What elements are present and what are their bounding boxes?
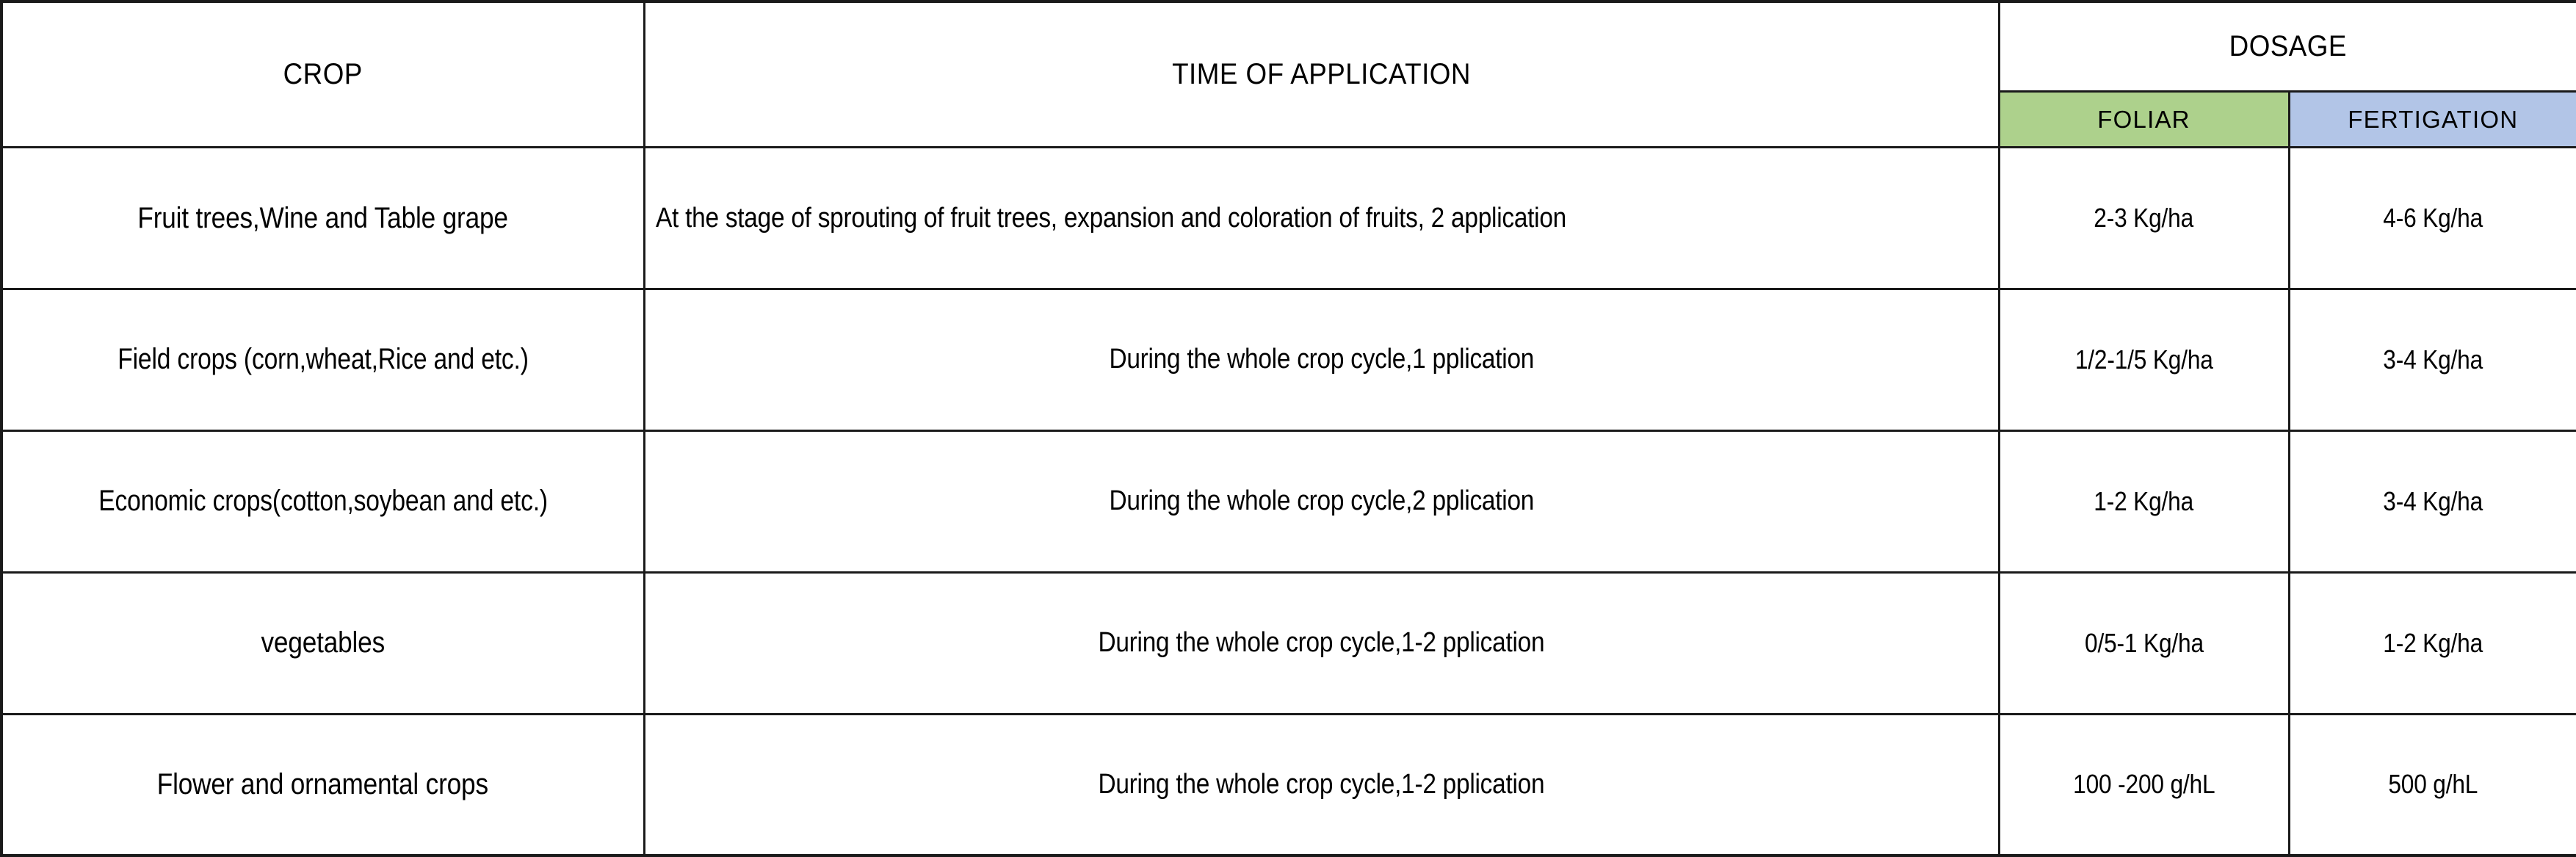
cell-time-of-application: During the whole crop cycle,1-2 pplicati…: [644, 714, 1999, 856]
application-dosage-table: CROP TIME OF APPLICATION DOSAGE FOLIAR F…: [0, 0, 2576, 857]
header-cell-dosage: DOSAGE: [2022, 1, 2555, 92]
crop-name: Flower and ornamental crops: [157, 768, 488, 801]
spreadsheet-canvas: CROP TIME OF APPLICATION DOSAGE FOLIAR F…: [0, 0, 2576, 857]
dosage-fertigation-value: 3-4 Kg/ha: [2383, 486, 2483, 517]
dosage-fertigation-value: 3-4 Kg/ha: [2383, 344, 2483, 375]
cell-time-of-application: During the whole crop cycle,1-2 pplicati…: [644, 572, 1999, 714]
time-of-application-text: During the whole crop cycle,1-2 pplicati…: [1099, 627, 1545, 659]
header-label-time-of-application: TIME OF APPLICATION: [1172, 58, 1471, 90]
cell-crop: Flower and ornamental crops: [1, 714, 644, 856]
cell-time-of-application: During the whole crop cycle,1 pplication: [644, 289, 1999, 431]
cell-dosage-foliar: 1-2 Kg/ha: [1999, 430, 2289, 572]
header-label-dosage: DOSAGE: [2229, 30, 2347, 62]
crop-name: Fruit trees,Wine and Table grape: [138, 202, 508, 235]
cell-dosage-fertigation: 3-4 Kg/ha: [2289, 430, 2576, 572]
table-row: Field crops (corn,wheat,Rice and etc.) D…: [1, 289, 2576, 431]
crop-name: Field crops (corn,wheat,Rice and etc.): [117, 343, 528, 376]
cell-crop: Fruit trees,Wine and Table grape: [1, 148, 644, 289]
crop-name: Economic crops(cotton,soybean and etc.): [98, 485, 548, 518]
cell-dosage-fertigation: 500 g/hL: [2289, 714, 2576, 856]
table-row: Economic crops(cotton,soybean and etc.) …: [1, 430, 2576, 572]
time-of-application-text: At the stage of sprouting of fruit trees…: [656, 203, 1566, 234]
header-label-foliar: FOLIAR: [2097, 106, 2190, 133]
table-row: Flower and ornamental crops During the w…: [1, 714, 2576, 856]
dosage-foliar-value: 1-2 Kg/ha: [2094, 486, 2194, 517]
cell-dosage-foliar: 1/2-1/5 Kg/ha: [1999, 289, 2289, 431]
cell-time-of-application: At the stage of sprouting of fruit trees…: [644, 148, 1999, 289]
dosage-fertigation-value: 1-2 Kg/ha: [2383, 628, 2483, 659]
header-cell-time-of-application: TIME OF APPLICATION: [698, 1, 1944, 148]
header-cell-foliar: FOLIAR: [1999, 92, 2289, 148]
table-row: Fruit trees,Wine and Table grape At the …: [1, 148, 2576, 289]
dosage-foliar-value: 100 -200 g/hL: [2073, 769, 2215, 800]
cell-dosage-fertigation: 1-2 Kg/ha: [2289, 572, 2576, 714]
cell-crop: Field crops (corn,wheat,Rice and etc.): [1, 289, 644, 431]
cell-crop: Economic crops(cotton,soybean and etc.): [1, 430, 644, 572]
cell-crop: vegetables: [1, 572, 644, 714]
cell-dosage-fertigation: 4-6 Kg/ha: [2289, 148, 2576, 289]
time-of-application-text: During the whole crop cycle,1-2 pplicati…: [1099, 769, 1545, 800]
crop-name: vegetables: [261, 626, 385, 659]
header-label-crop: CROP: [283, 58, 363, 90]
table-row: vegetables During the whole crop cycle,1…: [1, 572, 2576, 714]
dosage-foliar-value: 1/2-1/5 Kg/ha: [2075, 344, 2213, 375]
header-label-fertigation: FERTIGATION: [2348, 106, 2518, 133]
cell-dosage-fertigation: 3-4 Kg/ha: [2289, 289, 2576, 431]
header-cell-fertigation: FERTIGATION: [2289, 92, 2576, 148]
dosage-foliar-value: 2-3 Kg/ha: [2094, 203, 2194, 234]
cell-time-of-application: During the whole crop cycle,2 pplication: [644, 430, 1999, 572]
dosage-foliar-value: 0/5-1 Kg/ha: [2085, 628, 2204, 659]
cell-dosage-foliar: 100 -200 g/hL: [1999, 714, 2289, 856]
cell-dosage-foliar: 2-3 Kg/ha: [1999, 148, 2289, 289]
dosage-fertigation-value: 500 g/hL: [2388, 769, 2478, 800]
time-of-application-text: During the whole crop cycle,1 pplication: [1109, 344, 1534, 375]
cell-dosage-foliar: 0/5-1 Kg/ha: [1999, 572, 2289, 714]
time-of-application-text: During the whole crop cycle,2 pplication: [1109, 485, 1534, 517]
table-header-row-primary: CROP TIME OF APPLICATION DOSAGE: [1, 1, 2576, 92]
header-cell-crop: CROP: [27, 1, 618, 148]
dosage-fertigation-value: 4-6 Kg/ha: [2383, 203, 2483, 234]
